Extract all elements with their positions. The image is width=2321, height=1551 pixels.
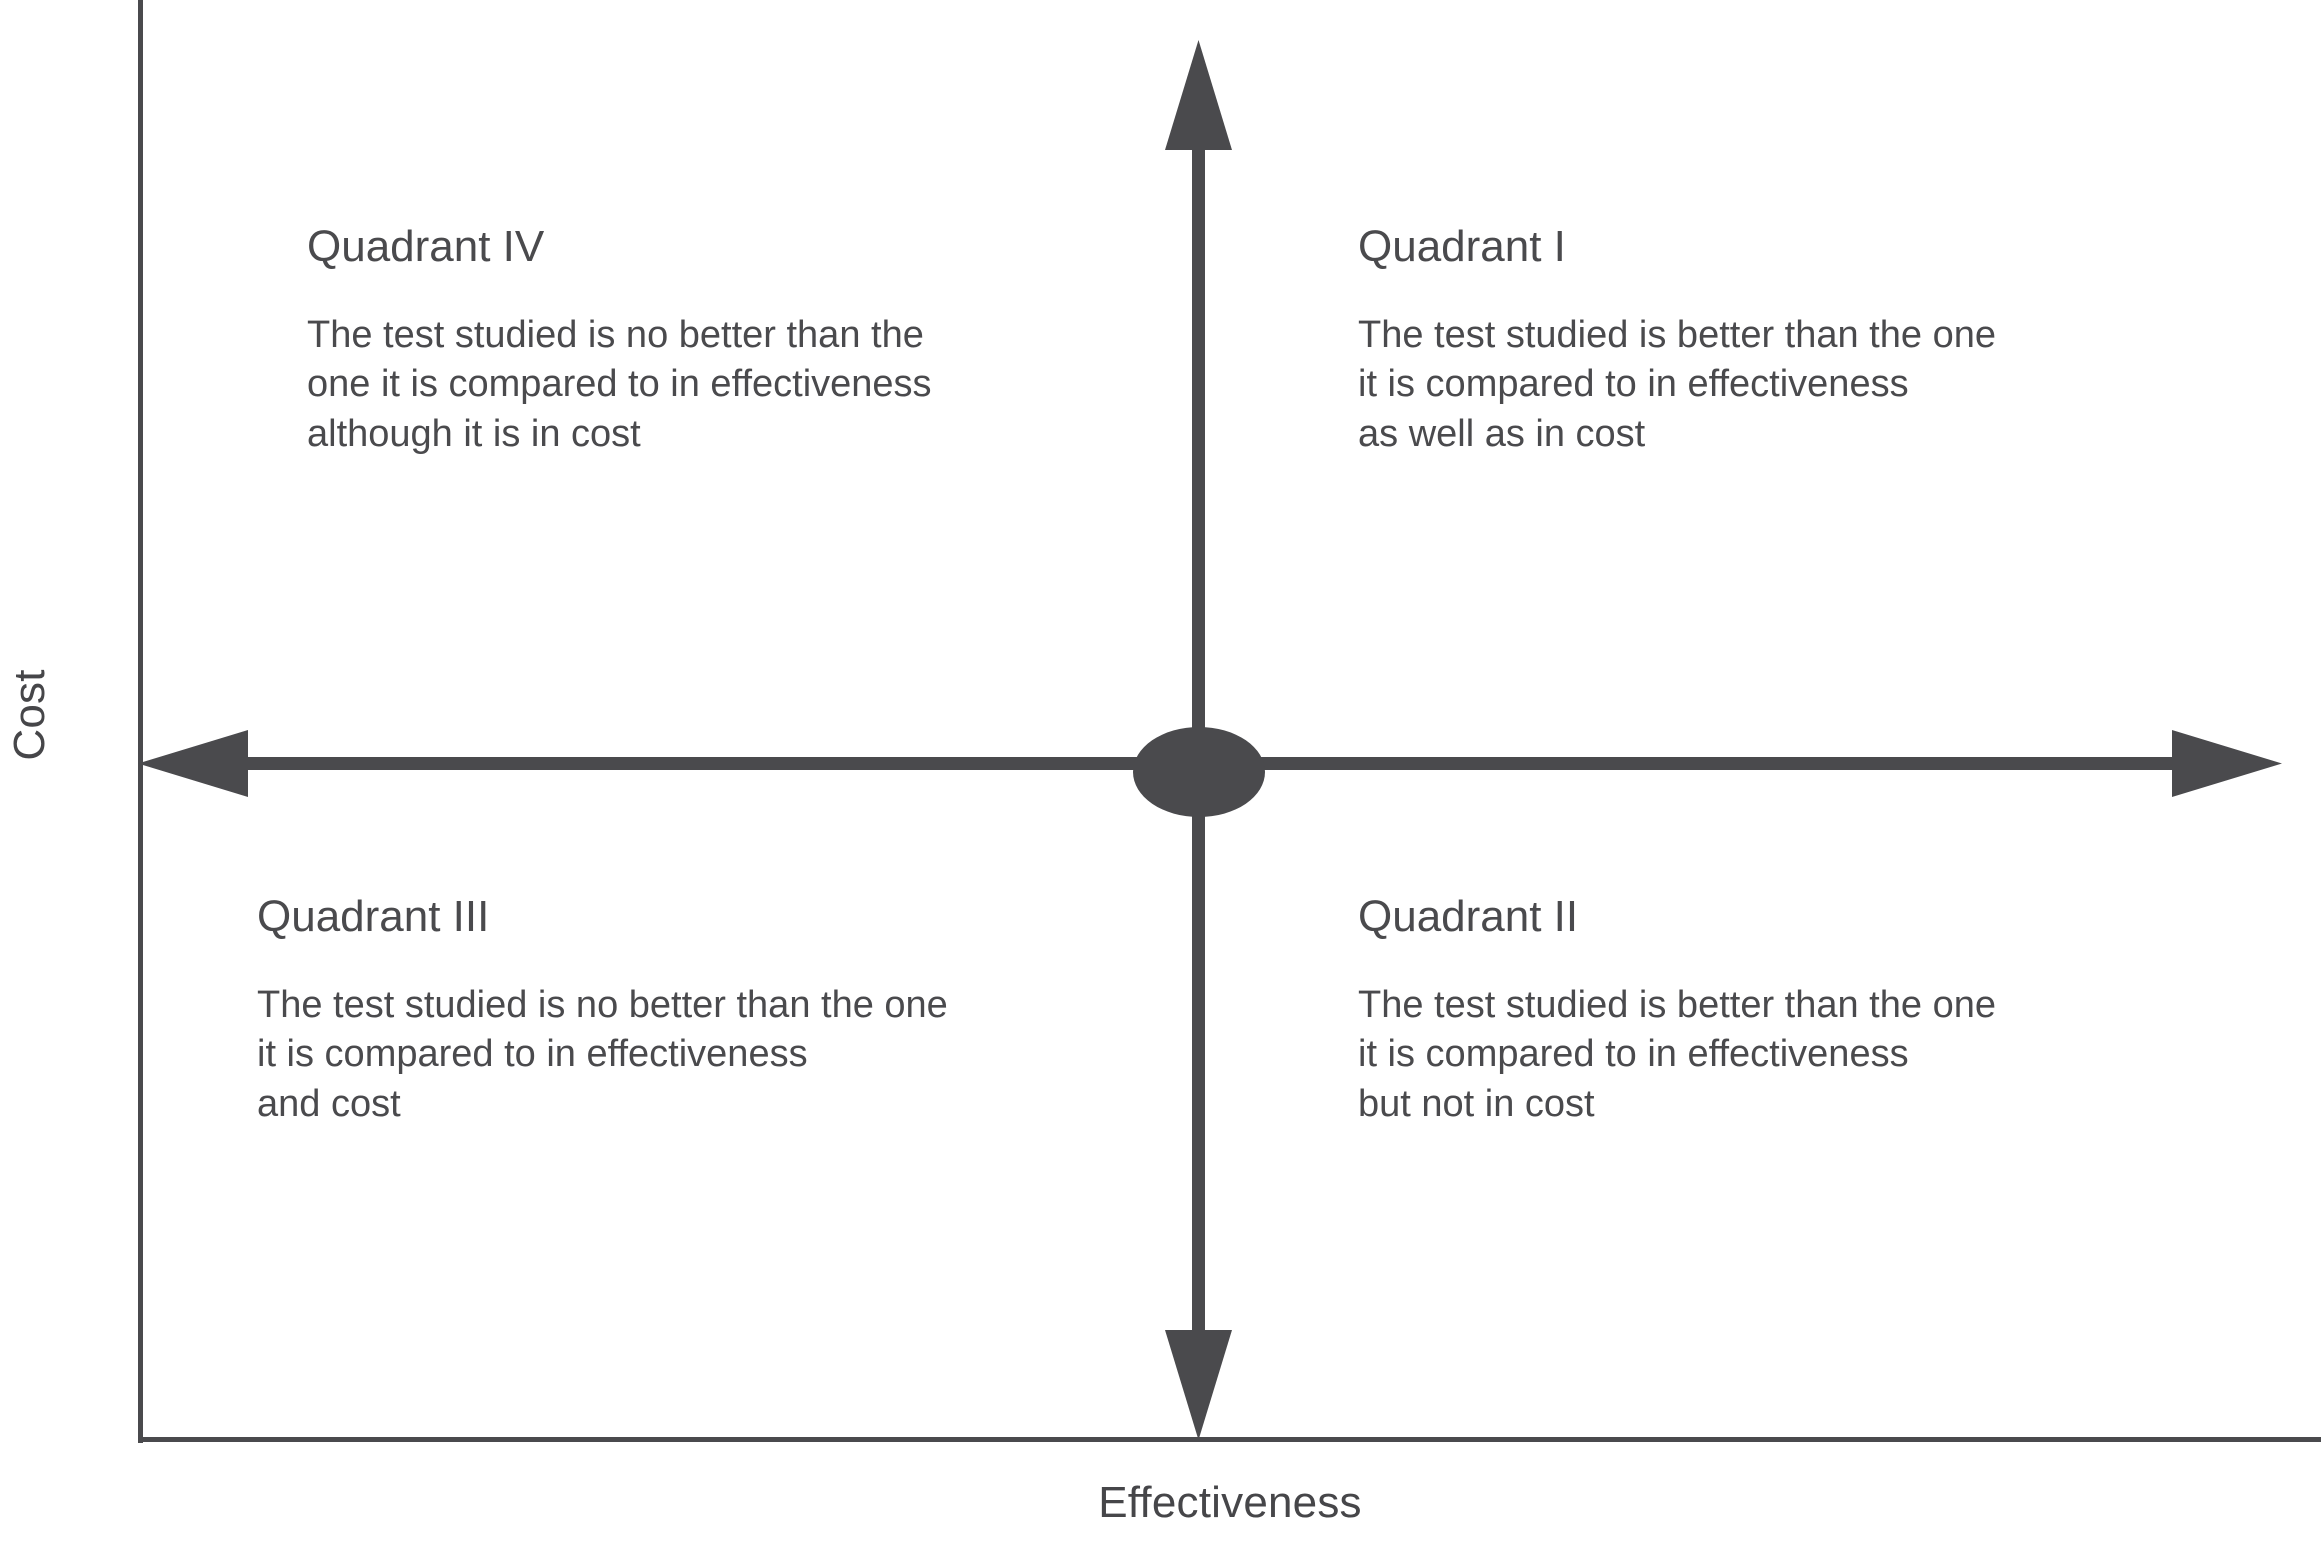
quadrant-ii-description: The test studied is better than the one … bbox=[1358, 981, 2238, 1129]
cost-axis-up-arrowhead bbox=[1165, 40, 1232, 150]
quadrant-iv-block: Quadrant IV The test studied is no bette… bbox=[307, 225, 1137, 459]
quadrant-i-title: Quadrant I bbox=[1358, 225, 2238, 269]
quadrant-i-description: The test studied is better than the one … bbox=[1358, 311, 2238, 459]
diagram-canvas: Cost Effectiveness Quadrant IV The test … bbox=[0, 0, 2321, 1551]
quadrant-ii-title: Quadrant II bbox=[1358, 895, 2238, 939]
cost-axis-down-arrowhead bbox=[1165, 1330, 1232, 1440]
origin-ellipse bbox=[1133, 727, 1265, 817]
x-axis-label: Effectiveness bbox=[1000, 1478, 1460, 1528]
quadrant-iii-block: Quadrant III The test studied is no bett… bbox=[257, 895, 1187, 1129]
quadrant-iv-title: Quadrant IV bbox=[307, 225, 1137, 269]
quadrant-iii-title: Quadrant III bbox=[257, 895, 1187, 939]
effectiveness-axis-left-arrowhead bbox=[138, 730, 248, 797]
quadrant-ii-block: Quadrant II The test studied is better t… bbox=[1358, 895, 2238, 1129]
y-axis-label: Cost bbox=[5, 635, 55, 795]
quadrant-iv-description: The test studied is no better than the o… bbox=[307, 311, 1137, 459]
effectiveness-axis-right-arrowhead bbox=[2172, 730, 2282, 797]
quadrant-i-block: Quadrant I The test studied is better th… bbox=[1358, 225, 2238, 459]
quadrant-iii-description: The test studied is no better than the o… bbox=[257, 981, 1187, 1129]
